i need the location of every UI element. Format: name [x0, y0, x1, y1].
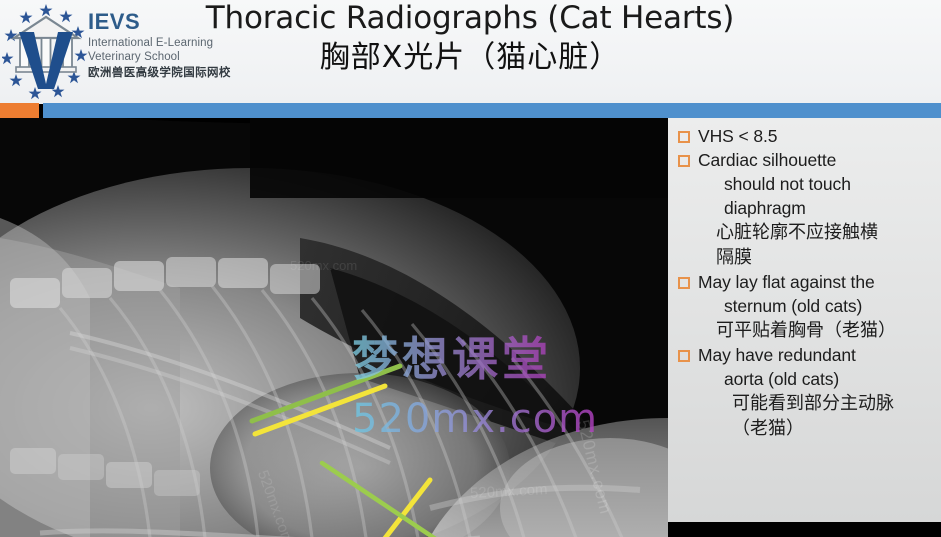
bullet-item: should not touch	[676, 173, 937, 196]
bullet-square-icon	[678, 131, 690, 143]
bullet-spacer	[678, 374, 690, 386]
radiograph-image: 520mx.com 520mx.com 520mx.com 520mx.com …	[0, 118, 668, 537]
bullet-text: VHS < 8.5	[698, 125, 777, 148]
accent-bar-blue	[43, 103, 941, 118]
notes-panel: VHS < 8.5Cardiac silhouetteshould not to…	[668, 118, 941, 522]
bullet-spacer	[678, 203, 690, 215]
bullet-text: sternum (old cats)	[698, 295, 862, 318]
bullet-item: VHS < 8.5	[676, 125, 937, 148]
bullet-text: Cardiac silhouette	[698, 149, 836, 172]
bullet-square-icon	[678, 155, 690, 167]
bullet-item: aorta (old cats)	[676, 368, 937, 391]
bullet-item: May have redundant	[676, 344, 937, 367]
bullet-text: 可能看到部分主动脉	[698, 392, 894, 416]
watermark-url: 520mx.com	[352, 396, 598, 442]
ievs-logo	[2, 2, 90, 100]
bullet-item: （老猫）	[676, 417, 937, 441]
bullet-text: 心脏轮廓不应接触横	[698, 221, 878, 245]
bullet-spacer	[678, 398, 690, 410]
bullet-text: May lay flat against the	[698, 271, 875, 294]
bullet-spacer	[678, 252, 690, 264]
bullet-spacer	[678, 325, 690, 337]
bullet-item: 可能看到部分主动脉	[676, 392, 937, 416]
bullet-text: should not touch	[698, 173, 851, 196]
bullet-square-icon	[678, 277, 690, 289]
bullet-item: Cardiac silhouette	[676, 149, 937, 172]
bullet-item: sternum (old cats)	[676, 295, 937, 318]
short-axis-green-line	[322, 463, 482, 537]
bullet-spacer	[678, 301, 690, 313]
measurement-overlay	[0, 118, 668, 537]
column-v-icon	[10, 10, 82, 90]
bullet-spacer	[678, 179, 690, 191]
bullet-text: aorta (old cats)	[698, 368, 839, 391]
bullet-text: 隔膜	[698, 246, 752, 270]
bullet-text: 可平贴着胸骨（老猫）	[698, 319, 896, 343]
bullet-item: May lay flat against the	[676, 271, 937, 294]
accent-bar-orange	[0, 103, 39, 118]
slide-header: IEVS International E-Learning Veterinary…	[0, 0, 941, 104]
slide-title-english: Thoracic Radiographs (Cat Hearts)	[190, 1, 750, 37]
bullet-item: 隔膜	[676, 246, 937, 270]
bullet-spacer	[678, 423, 690, 435]
bullet-text: May have redundant	[698, 344, 856, 367]
slide-canvas: IEVS International E-Learning Veterinary…	[0, 0, 941, 537]
bullet-text: （老猫）	[698, 417, 804, 441]
bullet-list: VHS < 8.5Cardiac silhouetteshould not to…	[676, 125, 937, 441]
bullet-text: diaphragm	[698, 197, 806, 220]
bullet-item: 心脏轮廓不应接触横	[676, 221, 937, 245]
bullet-spacer	[678, 227, 690, 239]
bullet-item: 可平贴着胸骨（老猫）	[676, 319, 937, 343]
bullet-square-icon	[678, 350, 690, 362]
slide-title-chinese: 胸部X光片（猫心脏）	[190, 40, 750, 76]
bullet-item: diaphragm	[676, 197, 937, 220]
watermark-brand-cn: 梦想课堂	[352, 323, 552, 389]
